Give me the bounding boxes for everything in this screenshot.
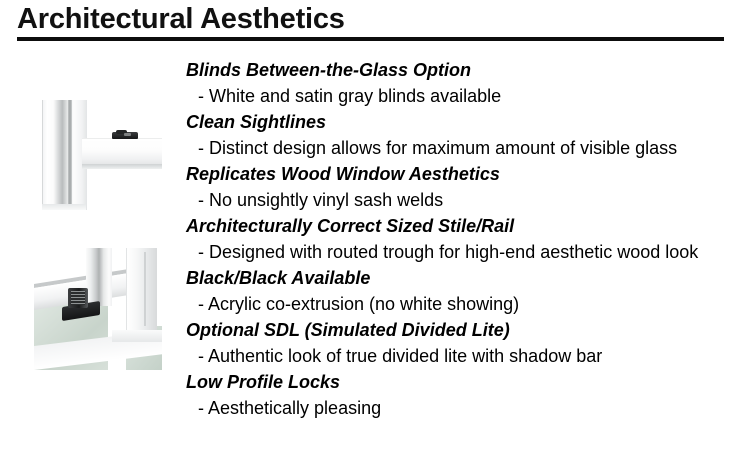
right-jamb-line-shape	[144, 252, 146, 326]
feature-heading: Optional SDL (Simulated Divided Lite)	[186, 317, 726, 343]
slide-architectural-aesthetics: { "slide": { "title": "Architectural Aes…	[0, 0, 740, 452]
vertical-stile-shape	[42, 100, 87, 210]
feature-detail: - Aesthetically pleasing	[186, 395, 726, 421]
feature-heading: Low Profile Locks	[186, 369, 726, 395]
feature-list: Blinds Between-the-Glass Option - White …	[186, 57, 726, 421]
center-stile-shape	[86, 248, 112, 306]
feature-heading: Black/Black Available	[186, 265, 726, 291]
feature-item: Low Profile Locks - Aesthetically pleasi…	[186, 369, 726, 421]
feature-detail: - No unsightly vinyl sash welds	[186, 187, 726, 213]
stile-routed-groove-shape	[68, 100, 72, 210]
lower-jamb-shape	[112, 330, 162, 342]
feature-heading: Blinds Between-the-Glass Option	[186, 57, 726, 83]
horizontal-rail-shape	[82, 138, 162, 167]
feature-heading: Replicates Wood Window Aesthetics	[186, 161, 726, 187]
lock-highlight-shape	[124, 133, 131, 136]
feature-detail: - Designed with routed trough for high-e…	[186, 239, 726, 265]
title-divider	[17, 37, 724, 41]
feature-item: Blinds Between-the-Glass Option - White …	[186, 57, 726, 109]
feature-item: Clean Sightlines - Distinct design allow…	[186, 109, 726, 161]
feature-detail: - Distinct design allows for maximum amo…	[186, 135, 726, 161]
rail-shadow-shape	[82, 164, 162, 169]
feature-heading: Clean Sightlines	[186, 109, 726, 135]
stile-rail-corner-joint-image	[38, 100, 162, 210]
lock-ribs-shape	[71, 291, 85, 305]
right-jamb-shape	[126, 248, 157, 330]
feature-item: Replicates Wood Window Aesthetics - No u…	[186, 161, 726, 213]
feature-detail: - Authentic look of true divided lite wi…	[186, 343, 726, 369]
feature-heading: Architecturally Correct Sized Stile/Rail	[186, 213, 726, 239]
feature-item: Optional SDL (Simulated Divided Lite) - …	[186, 317, 726, 369]
page-title: Architectural Aesthetics	[17, 2, 345, 36]
stile-base-shape	[42, 204, 86, 210]
sash-with-low-profile-lock-image	[34, 248, 162, 370]
feature-item: Architecturally Correct Sized Stile/Rail…	[186, 213, 726, 265]
feature-detail: - White and satin gray blinds available	[186, 83, 726, 109]
feature-detail: - Acrylic co-extrusion (no white showing…	[186, 291, 726, 317]
feature-item: Black/Black Available - Acrylic co-extru…	[186, 265, 726, 317]
figure-column	[0, 90, 176, 390]
